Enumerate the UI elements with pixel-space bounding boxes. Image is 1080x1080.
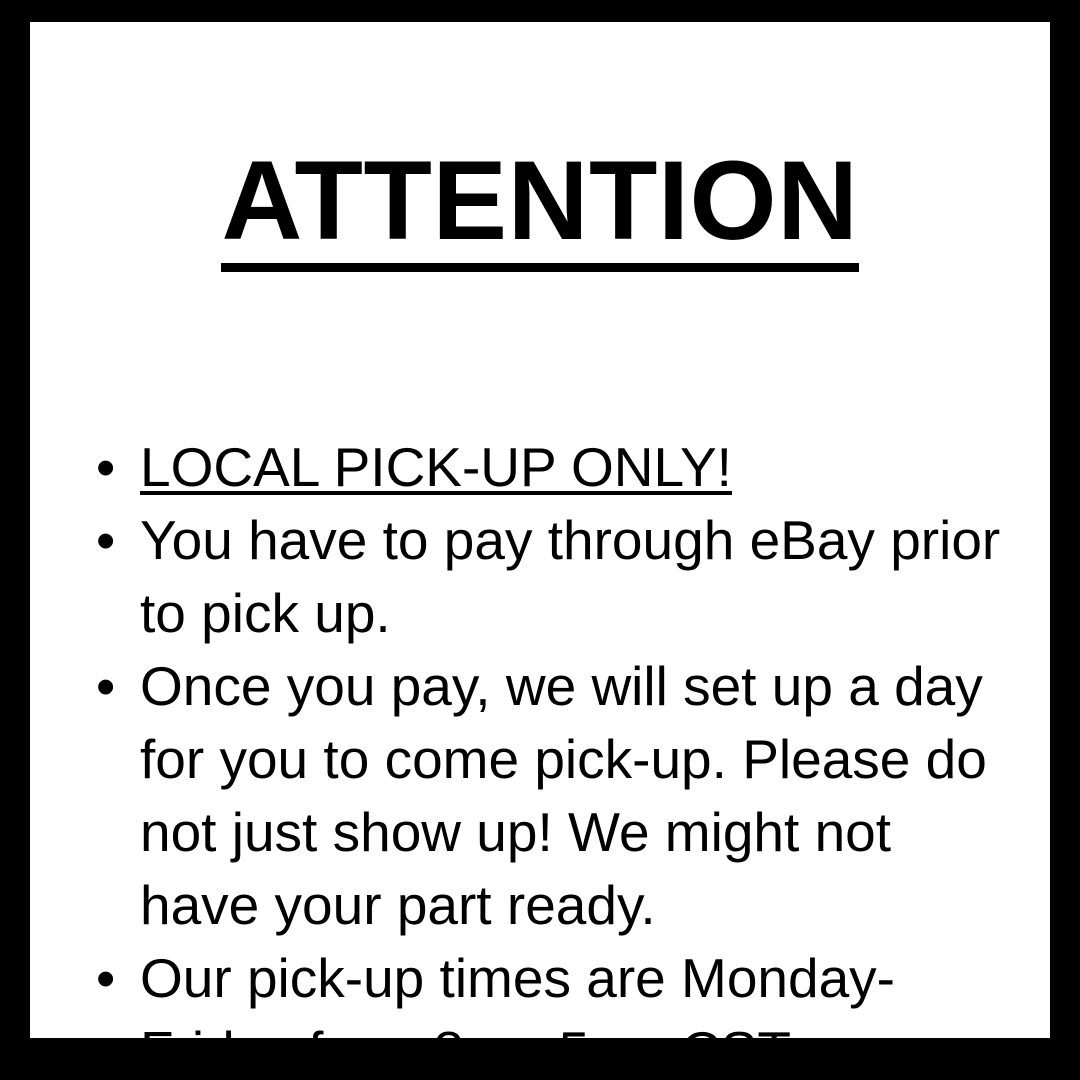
bullet-point-icon: • <box>96 504 122 577</box>
list-item: • Once you pay, we will set up a day for… <box>78 650 1022 942</box>
bullet-point-icon: • <box>96 942 122 1015</box>
notice-card: ATTENTION • LOCAL PICK-UP ONLY! • You ha… <box>30 22 1050 1038</box>
page-title: ATTENTION <box>221 145 858 272</box>
list-item-text: Our pick-up times are Monday-Friday from… <box>140 947 895 1038</box>
list-item-text: LOCAL PICK-UP ONLY! <box>140 436 732 498</box>
list-item: • Our pick-up times are Monday-Friday fr… <box>78 942 1022 1038</box>
list-item: • You have to pay through eBay prior to … <box>78 504 1022 650</box>
list-item-text: Once you pay, we will set up a day for y… <box>140 655 987 936</box>
notice-frame: ATTENTION • LOCAL PICK-UP ONLY! • You ha… <box>0 0 1080 1080</box>
bullet-point-icon: • <box>96 431 122 504</box>
list-item-text: You have to pay through eBay prior to pi… <box>140 509 1000 644</box>
notice-bullet-list: • LOCAL PICK-UP ONLY! • You have to pay … <box>78 431 1022 1038</box>
title-block: ATTENTION <box>30 22 1050 347</box>
bullet-point-icon: • <box>96 650 122 723</box>
list-item: • LOCAL PICK-UP ONLY! <box>78 431 1022 504</box>
